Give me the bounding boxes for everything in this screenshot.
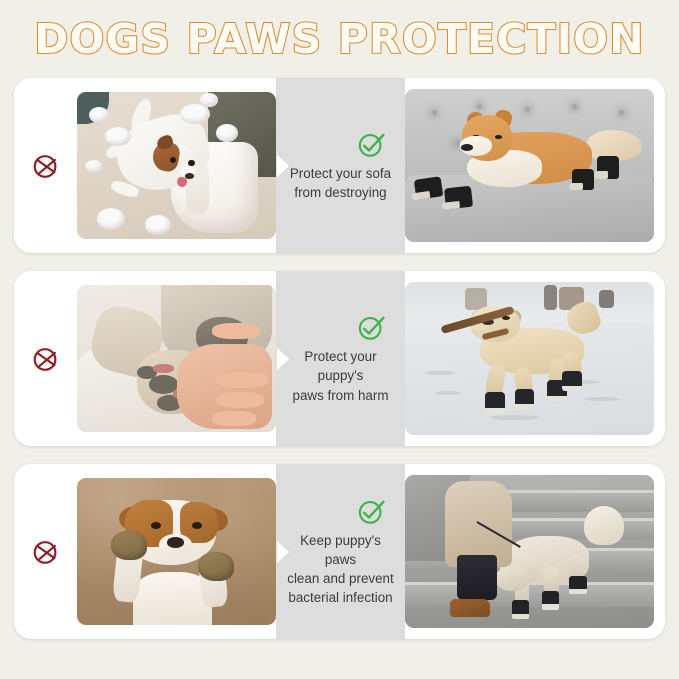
page-title: DOGS PAWS PROTECTION [34, 15, 644, 63]
solution-photo-clean [405, 475, 654, 628]
benefit-card-clean: Keep puppy's paws clean and prevent bact… [14, 464, 665, 639]
problem-photo-paws [77, 285, 276, 432]
benefit-text: Protect your sofa from destroying [290, 164, 391, 202]
benefit-text-panel-clean: Keep puppy's paws clean and prevent bact… [276, 464, 405, 639]
arrow-right-icon [276, 151, 291, 181]
benefit-text-panel-sofa: Protect your sofa from destroying [276, 78, 405, 253]
problem-marker [14, 271, 77, 446]
problem-photo-sofa [77, 92, 276, 239]
problem-marker [14, 78, 77, 253]
arrow-right-icon [276, 344, 291, 374]
cross-circle-icon [31, 537, 61, 567]
problem-photo-clean [77, 478, 276, 625]
cross-circle-icon [31, 344, 61, 374]
check-circle-icon [356, 312, 387, 343]
benefit-text: Keep puppy's paws clean and prevent bact… [286, 531, 395, 607]
benefit-text-panel-paws: Protect your puppy's paws from harm [276, 271, 405, 446]
benefit-text: Protect your puppy's paws from harm [286, 347, 395, 404]
benefit-card-sofa: Protect your sofa from destroying [14, 78, 665, 253]
panel-list: Protect your sofa from destroying [0, 78, 679, 639]
solution-photo-sofa [405, 89, 654, 242]
header: DOGS PAWS PROTECTION [0, 0, 679, 78]
benefit-card-paws: Protect your puppy's paws from harm [14, 271, 665, 446]
check-circle-icon [356, 496, 387, 527]
solution-photo-paws [405, 282, 654, 435]
arrow-right-icon [276, 537, 291, 567]
check-circle-icon [356, 129, 387, 160]
problem-marker [14, 464, 77, 639]
cross-circle-icon [31, 151, 61, 181]
